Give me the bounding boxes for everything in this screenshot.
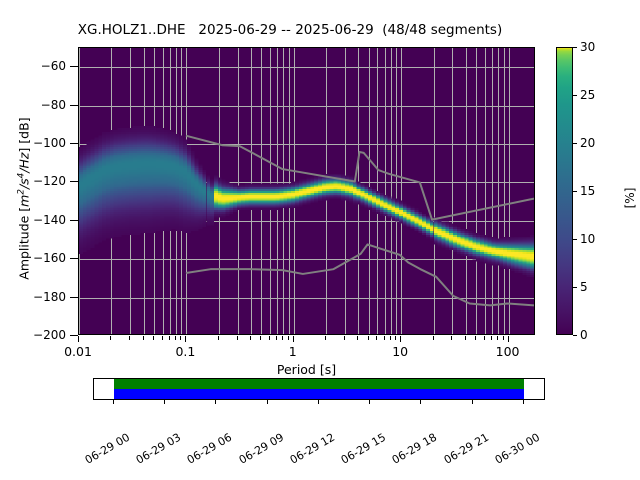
colorbar-tick	[573, 239, 577, 240]
x-axis-tick	[395, 336, 396, 340]
x-axis-tick	[143, 336, 144, 340]
x-axis-tick	[78, 336, 79, 342]
timeline-tick-label: 06-29 12	[288, 431, 337, 467]
x-axis-tick	[180, 336, 181, 340]
timeline-tick	[164, 400, 165, 404]
page-title: XG.HOLZ1..DHE 2025-06-29 -- 2025-06-29 (…	[0, 22, 580, 38]
x-axis-tick	[162, 336, 163, 340]
x-axis-tick	[276, 336, 277, 340]
noise-model-line	[186, 136, 534, 220]
y-axis-tick-label: −120	[33, 174, 66, 188]
colorbar-tick-label: 10	[580, 232, 595, 246]
x-axis-tick	[508, 336, 509, 342]
colorbar-tick-label: 20	[580, 136, 595, 150]
y-axis-tick	[70, 297, 78, 298]
y-axis-tick	[70, 181, 78, 182]
colorbar-tick	[573, 95, 577, 96]
timeline-coverage-axes[interactable]	[93, 378, 545, 400]
x-axis-tick-label: 0.01	[64, 344, 92, 359]
colorbar-tick-label: 25	[580, 88, 595, 102]
x-axis-tick	[325, 336, 326, 340]
x-axis-tick	[293, 336, 294, 342]
timeline-bar-segment-coverage	[114, 389, 524, 399]
x-axis-tick	[497, 336, 498, 340]
y-axis-tick-label: −60	[41, 59, 66, 73]
colorbar-tick	[573, 47, 577, 48]
y-axis-title-text: Amplitude [m2/s4/Hz] [dB]	[17, 117, 32, 279]
x-axis-tick-label: 1	[289, 344, 297, 359]
colorbar-tick	[573, 287, 577, 288]
x-axis-tick	[503, 336, 504, 340]
y-axis-tick-label: −140	[33, 213, 66, 227]
colorbar-tick	[573, 335, 577, 336]
colorbar-tick-label: 0	[580, 328, 588, 342]
colorbar-tick-label: 5	[580, 280, 588, 294]
timeline-tick-label: 06-29 21	[441, 431, 490, 467]
y-axis-tick	[70, 220, 78, 221]
x-axis-tick	[491, 336, 492, 340]
x-axis-tick	[129, 336, 130, 340]
timeline-tick	[369, 400, 370, 404]
y-axis-tick	[70, 66, 78, 67]
x-axis-tick	[475, 336, 476, 340]
timeline-tick-label: 06-29 09	[236, 431, 285, 467]
timeline-tick	[215, 400, 216, 404]
colorbar-tick-label: 30	[580, 40, 595, 54]
noise-model-layer	[79, 48, 534, 334]
x-axis-tick	[110, 336, 111, 340]
timeline-tick-label: 06-29 06	[185, 431, 234, 467]
x-axis-tick	[185, 336, 186, 342]
x-axis-tick	[484, 336, 485, 340]
x-axis-tick	[344, 336, 345, 340]
ppsd-plot-area	[78, 47, 535, 335]
x-axis-tick	[237, 336, 238, 340]
y-axis-tick-label: −200	[33, 328, 66, 342]
x-axis-tick	[465, 336, 466, 340]
x-axis-title: Period [s]	[78, 362, 535, 377]
noise-model-line	[186, 244, 534, 305]
x-axis-tick	[376, 336, 377, 340]
x-axis-tick	[282, 336, 283, 340]
timeline-bar-data-coverage	[114, 379, 524, 389]
colorbar-tick-label: 15	[580, 184, 595, 198]
x-axis-tick	[357, 336, 358, 340]
colorbar-tick	[573, 143, 577, 144]
timeline-tick	[318, 400, 319, 404]
ppsd-figure: XG.HOLZ1..DHE 2025-06-29 -- 2025-06-29 (…	[0, 0, 640, 480]
y-axis-tick	[70, 143, 78, 144]
timeline-tick	[472, 400, 473, 404]
x-axis-tick	[153, 336, 154, 340]
timeline-tick-label: 06-30 00	[493, 431, 542, 467]
x-axis-tick	[384, 336, 385, 340]
colorbar-title: [%]	[623, 168, 637, 228]
x-axis-tick	[175, 336, 176, 340]
x-axis-tick	[451, 336, 452, 340]
colorbar	[556, 47, 573, 335]
x-axis-tick-label: 10	[392, 344, 408, 359]
timeline-tick	[113, 400, 114, 404]
timeline-tick-label: 06-29 03	[134, 431, 183, 467]
y-axis-tick-label: −100	[33, 136, 66, 150]
timeline-tick	[267, 400, 268, 404]
x-axis-tick	[218, 336, 219, 340]
y-axis-tick	[70, 335, 78, 336]
timeline-tick-label: 06-29 15	[339, 431, 388, 467]
y-axis-title: Amplitude [m2/s4/Hz] [dB]	[16, 79, 31, 319]
x-axis-tick-label: 100	[496, 344, 520, 359]
y-axis-tick-label: −80	[41, 98, 66, 112]
y-axis-tick-label: −160	[33, 251, 66, 265]
timeline-tick-label: 06-29 18	[390, 431, 439, 467]
x-axis-tick	[288, 336, 289, 340]
timeline-tick	[523, 400, 524, 404]
x-axis-tick	[390, 336, 391, 340]
y-axis-tick	[70, 105, 78, 106]
colorbar-tick	[573, 191, 577, 192]
x-axis-tick	[250, 336, 251, 340]
x-axis-tick-label: 0.1	[175, 344, 195, 359]
x-axis-tick	[260, 336, 261, 340]
x-axis-tick	[368, 336, 369, 340]
timeline-tick	[420, 400, 421, 404]
x-axis-tick	[400, 336, 401, 342]
y-axis-tick	[70, 258, 78, 259]
y-axis-tick-label: −180	[33, 290, 66, 304]
x-axis-tick	[169, 336, 170, 340]
timeline-tick-label: 06-29 00	[82, 431, 131, 467]
x-axis-tick	[433, 336, 434, 340]
x-axis-tick	[269, 336, 270, 340]
